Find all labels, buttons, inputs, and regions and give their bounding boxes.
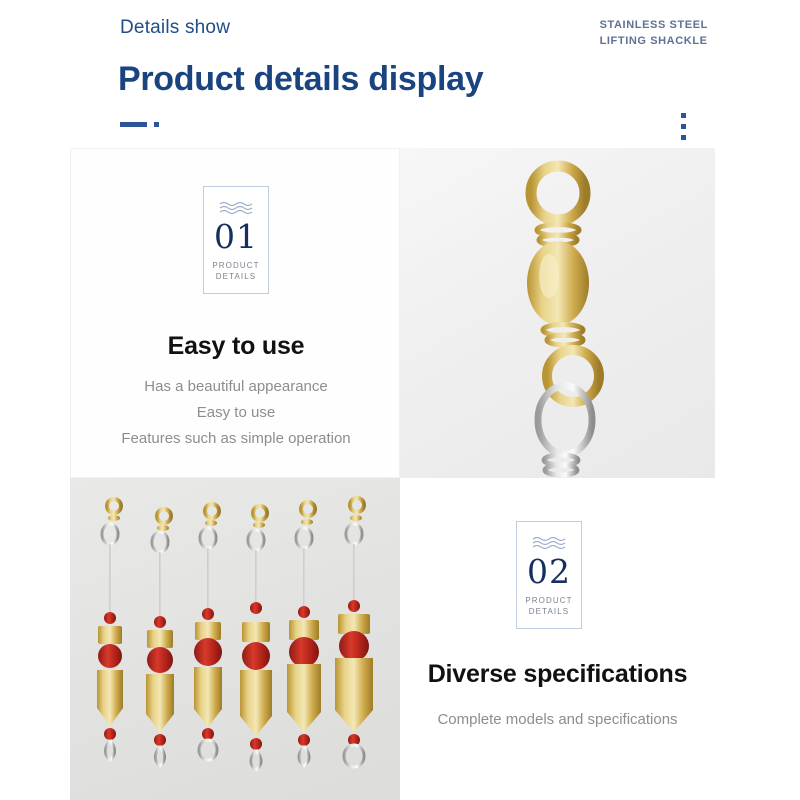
brand-line-1: STAINLESS STEEL [600, 18, 708, 34]
rig-lineup-illustration [70, 478, 400, 800]
badge-caption: PRODUCT DETAILS [517, 595, 581, 617]
brand-mark: STAINLESS STEEL LIFTING SHACKLE [600, 18, 708, 50]
page-header: Details show Product details display STA… [0, 0, 800, 148]
badge-caption: PRODUCT DETAILS [204, 260, 268, 282]
brand-line-2: LIFTING SHACKLE [600, 34, 708, 50]
panel-one-description: Has a beautiful appearance Easy to use F… [71, 374, 401, 451]
panel-two-subtitle: Complete models and specifications [400, 711, 715, 728]
kebab-dot-2 [681, 124, 686, 129]
swivel-illustration [473, 148, 643, 478]
panel-one-line-2: Easy to use [71, 400, 401, 426]
badge-01: 01 PRODUCT DETAILS [203, 186, 269, 294]
panel-one-heading: Easy to use [71, 332, 401, 361]
photo-swivel-closeup [400, 148, 715, 478]
panel-one-line-3: Features such as simple operation [71, 426, 401, 452]
panel-easy-to-use: 01 PRODUCT DETAILS Easy to use Has a bea… [70, 148, 400, 478]
badge-caption-line-1: PRODUCT [517, 595, 581, 606]
panel-two-heading: Diverse specifications [400, 660, 715, 689]
badge-number: 01 [204, 220, 268, 253]
panel-one-line-1: Has a beautiful appearance [71, 374, 401, 400]
vertical-three-dots-icon[interactable] [681, 113, 686, 140]
photo-rig-lineup [70, 478, 400, 800]
page-title: Product details display [118, 60, 483, 99]
badge-caption-line-2: DETAILS [204, 271, 268, 282]
badge-caption-line-1: PRODUCT [204, 260, 268, 271]
title-underline-decoration [120, 122, 159, 127]
panel-diverse-specifications: 02 PRODUCT DETAILS Diverse specification… [400, 478, 715, 800]
kebab-dot-3 [681, 135, 686, 140]
square-dot-icon [154, 122, 159, 127]
badge-caption-line-2: DETAILS [517, 606, 581, 617]
badge-number: 02 [517, 555, 581, 588]
kebab-dot-1 [681, 113, 686, 118]
wave-lines-icon [532, 535, 566, 550]
dash-accent-icon [120, 122, 147, 127]
eyebrow-label: Details show [120, 17, 230, 39]
badge-02: 02 PRODUCT DETAILS [516, 521, 582, 629]
details-grid: 01 PRODUCT DETAILS Easy to use Has a bea… [70, 148, 715, 800]
wave-lines-icon [219, 200, 253, 215]
